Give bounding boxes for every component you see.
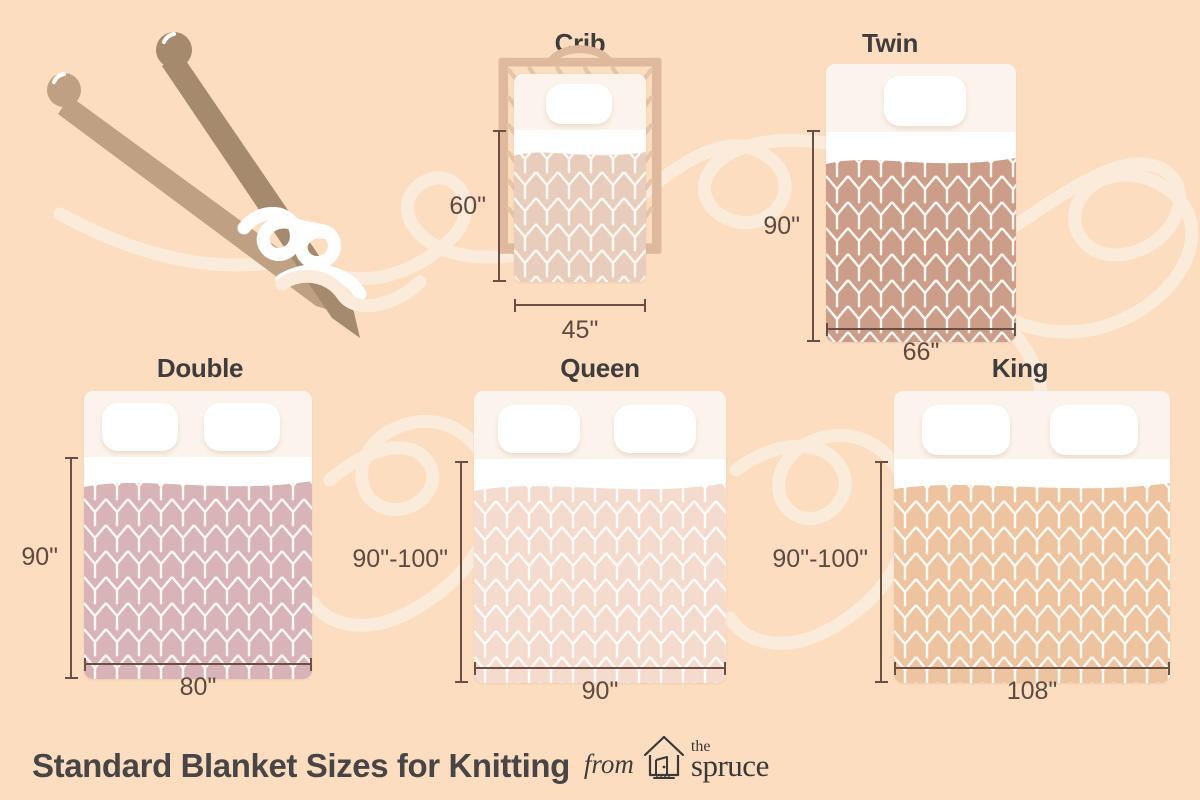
mattress-king: [894, 391, 1170, 683]
dimension-line-height-twin: [806, 130, 820, 342]
blanket-twin: [826, 150, 1016, 342]
page-title: Standard Blanket Sizes for Knitting: [32, 749, 570, 782]
dimension-label-width-queen: 90": [474, 679, 726, 704]
dimension-line-width-double: [84, 657, 312, 671]
blanket-double: [84, 473, 312, 679]
mattress-crib: [514, 74, 646, 282]
pillow: [922, 405, 1010, 455]
pillow: [884, 76, 966, 126]
mattress-queen: [474, 391, 726, 683]
infographic-canvas: Crib: [0, 0, 1200, 800]
pillow: [102, 403, 178, 451]
pillow: [546, 84, 612, 124]
dimension-label-height-queen: 90"-100": [324, 547, 448, 572]
bed-title-twin: Twin: [790, 30, 990, 56]
bed-title-king: King: [930, 355, 1110, 381]
bed-king: King 90"-1: [870, 355, 1180, 715]
dimension-label-height-king: 90"-100": [744, 547, 868, 572]
pillow: [1050, 405, 1138, 455]
pillow: [614, 405, 696, 453]
blanket-queen: [474, 475, 726, 683]
dimension-line-width-crib: [514, 298, 646, 312]
footer: Standard Blanket Sizes for Knitting from…: [32, 734, 769, 782]
mattress-double: [84, 391, 312, 679]
mattress-twin: [826, 64, 1016, 342]
pillow: [498, 405, 580, 453]
brand-lockup: from the spruce: [584, 734, 769, 782]
knitting-needles-icon: [30, 18, 430, 378]
bed-crib: Crib: [470, 22, 690, 322]
brand-from-label: from: [584, 751, 634, 780]
dimension-label-width-double: 80": [84, 675, 312, 700]
dimension-line-height-queen: [454, 461, 468, 683]
dimension-line-height-double: [64, 457, 78, 679]
bed-twin: Twin 90": [790, 22, 1020, 352]
brand-name-label: spruce: [691, 753, 769, 780]
dimension-label-height-double: 90": [0, 545, 58, 570]
bed-title-queen: Queen: [500, 355, 700, 381]
dimension-label-width-crib: 45": [514, 318, 646, 343]
blanket-king: [894, 475, 1170, 683]
dimension-line-width-king: [894, 661, 1170, 675]
dimension-line-width-queen: [474, 661, 726, 675]
blanket-crib: [514, 146, 646, 282]
dimension-line-height-king: [874, 461, 888, 683]
bed-double: Double 90": [60, 355, 330, 715]
dimension-line-width-twin: [826, 322, 1016, 336]
dimension-label-width-king: 108": [894, 679, 1170, 704]
house-icon: [642, 734, 686, 780]
dimension-label-height-crib: 60": [408, 194, 486, 219]
dimension-label-height-twin: 90": [722, 214, 800, 239]
bed-title-double: Double: [110, 355, 290, 381]
bed-queen: Queen 90"-: [450, 355, 740, 715]
dimension-line-height-crib: [492, 130, 506, 282]
pillow: [204, 403, 280, 451]
